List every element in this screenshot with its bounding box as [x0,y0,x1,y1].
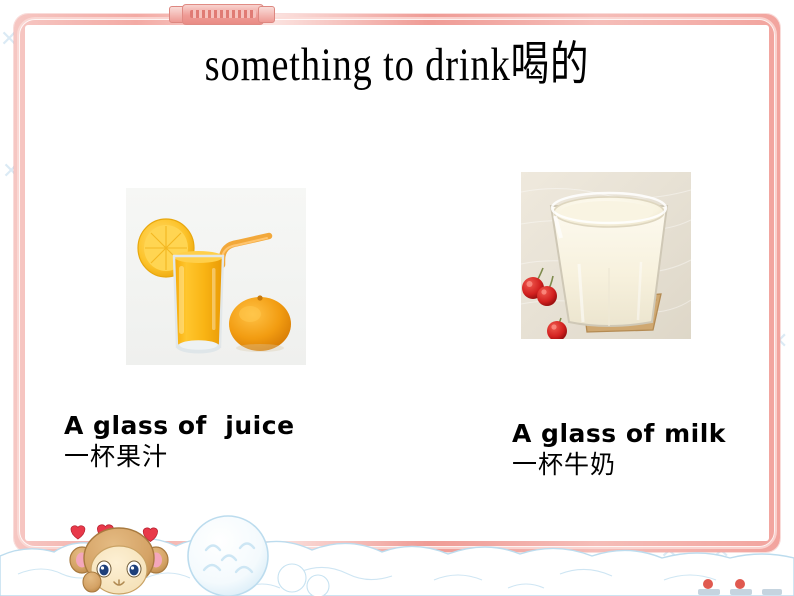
clasp-right-lug [258,6,275,23]
slide: ✕ ✕ ✕ ✕ ✕ ✕ ✕ ✕ ✕ ✕ ✕ something to drink… [0,0,794,596]
caption-milk-chinese: 一杯牛奶 [512,450,726,480]
glass-of-milk-photo [521,172,691,339]
clasp-bar [182,4,264,25]
caption-juice: A glass of juice 一杯果汁 [64,412,295,472]
bottom-right-dots [698,579,782,595]
clasp-ornament-icon [168,1,276,27]
page-title: something to drink喝的 [71,42,722,89]
caption-milk-english: A glass of milk [512,420,726,448]
caption-milk: A glass of milk 一杯牛奶 [512,420,726,480]
glass-of-orange-juice-photo [126,188,306,365]
caption-juice-english: A glass of juice [64,412,295,440]
caption-juice-chinese: 一杯果汁 [64,442,295,472]
